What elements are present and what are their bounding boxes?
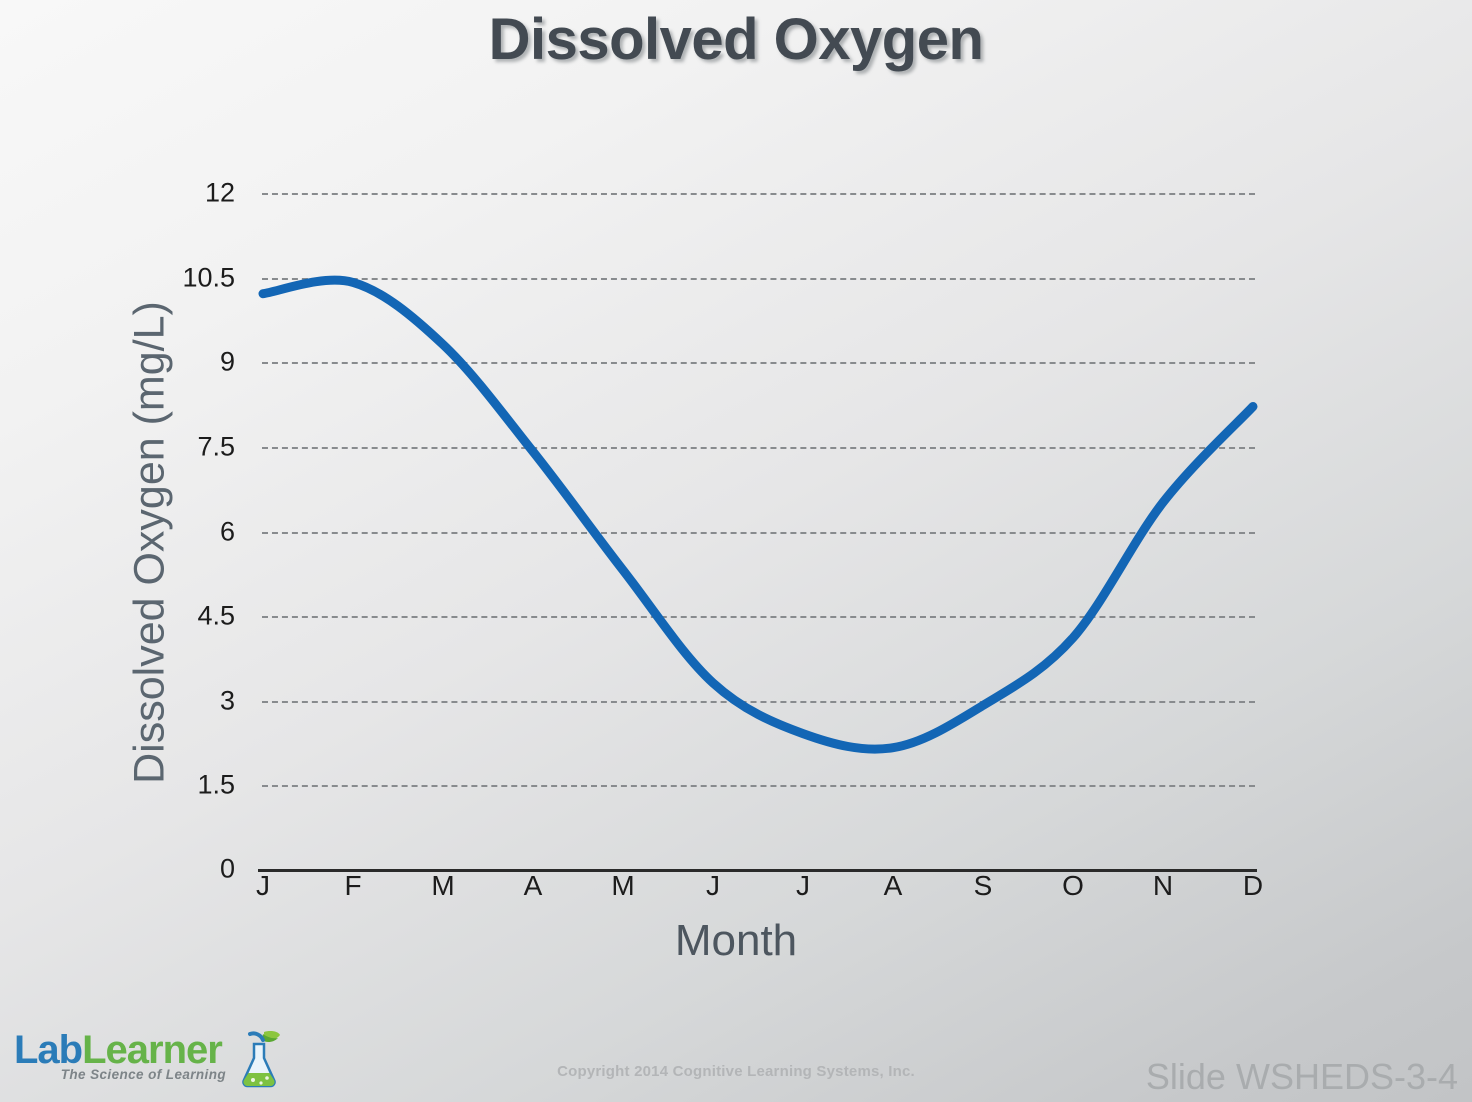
x-tick-dec: D: [1223, 870, 1283, 902]
x-tick-apr: A: [503, 870, 563, 902]
x-tick-jun: J: [683, 870, 743, 902]
slide-number: Slide WSHEDS-3-4: [1146, 1056, 1458, 1098]
flask-icon: [236, 1028, 282, 1090]
slide-canvas: Dissolved Oxygen Dissolved Oxygen (mg/L)…: [0, 0, 1472, 1102]
x-tick-oct: O: [1043, 870, 1103, 902]
x-tick-mar: M: [413, 870, 473, 902]
lablearner-logo: LabLearner The Science of Learning: [14, 1030, 264, 1092]
x-tick-aug: A: [863, 870, 923, 902]
x-tick-jul: J: [773, 870, 833, 902]
x-tick-sep: S: [953, 870, 1013, 902]
x-tick-feb: F: [323, 870, 383, 902]
x-tick-jan: J: [233, 870, 293, 902]
chart-plot-area: Dissolved Oxygen (mg/L) 12 10.5 9 7.5 6 …: [0, 0, 1472, 1102]
x-axis-title: Month: [0, 916, 1472, 966]
x-tick-may: M: [593, 870, 653, 902]
x-tick-nov: N: [1133, 870, 1193, 902]
